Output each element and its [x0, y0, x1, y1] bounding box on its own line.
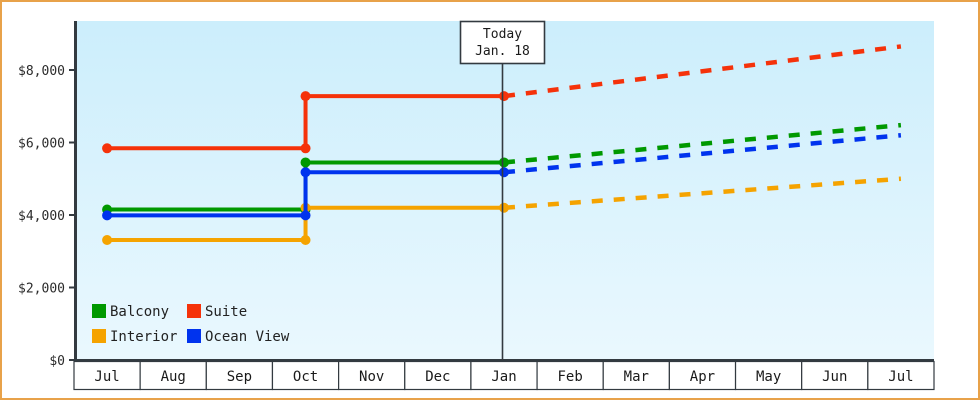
legend-label-balcony[interactable]: Balcony [110, 304, 169, 320]
month-axis: JulAugSepOctNovDecJanFebMarAprMayJunJul [74, 362, 934, 390]
data-point-marker[interactable] [301, 91, 311, 101]
today-callout-line1: Today [483, 27, 522, 42]
chart-canvas: $0 $2,000 $4,000 $6,000 $8,000 Today Jan… [2, 2, 980, 400]
data-point-marker[interactable] [301, 167, 311, 177]
y-tick-label-8000: $8,000 [18, 64, 65, 79]
data-point-marker[interactable] [499, 157, 509, 167]
data-point-marker[interactable] [301, 143, 311, 153]
month-axis-label-nov-4: Nov [359, 369, 384, 385]
price-forecast-chart-widget: $0 $2,000 $4,000 $6,000 $8,000 Today Jan… [0, 0, 980, 400]
today-callout-line2: Jan. 18 [475, 44, 530, 59]
data-point-marker[interactable] [102, 210, 112, 220]
month-axis-label-jul-12: Jul [888, 369, 913, 385]
y-tick-label-6000: $6,000 [18, 137, 65, 152]
data-point-marker[interactable] [301, 157, 311, 167]
y-tick-label-2000: $2,000 [18, 282, 65, 297]
month-axis-label-jan-6: Jan [491, 369, 516, 385]
month-axis-label-oct-3: Oct [293, 369, 318, 385]
legend-swatch-interior[interactable] [92, 329, 106, 343]
data-point-marker[interactable] [102, 235, 112, 245]
data-point-marker[interactable] [301, 210, 311, 220]
legend-label-interior[interactable]: Interior [110, 329, 177, 345]
month-axis-label-sep-2: Sep [227, 369, 252, 385]
month-axis-label-feb-7: Feb [558, 369, 583, 385]
data-point-marker[interactable] [499, 203, 509, 213]
month-axis-label-jun-11: Jun [822, 369, 847, 385]
month-axis-label-may-10: May [756, 369, 781, 385]
legend-swatch-ocean-view[interactable] [187, 329, 201, 343]
y-tick-label-4000: $4,000 [18, 209, 65, 224]
data-point-marker[interactable] [499, 91, 509, 101]
y-tick-label-0: $0 [49, 354, 65, 369]
data-point-marker[interactable] [499, 167, 509, 177]
legend-swatch-balcony[interactable] [92, 304, 106, 318]
legend-swatch-suite[interactable] [187, 304, 201, 318]
data-point-marker[interactable] [102, 143, 112, 153]
data-point-marker[interactable] [301, 235, 311, 245]
month-axis-label-mar-8: Mar [624, 369, 649, 385]
month-axis-label-jul-0: Jul [94, 369, 119, 385]
legend-label-suite[interactable]: Suite [205, 304, 247, 320]
month-axis-label-apr-9: Apr [690, 369, 715, 385]
month-axis-label-aug-1: Aug [161, 369, 186, 385]
legend-label-ocean-view[interactable]: Ocean View [205, 329, 290, 345]
plot-background [74, 21, 934, 360]
month-axis-label-dec-5: Dec [425, 369, 450, 385]
